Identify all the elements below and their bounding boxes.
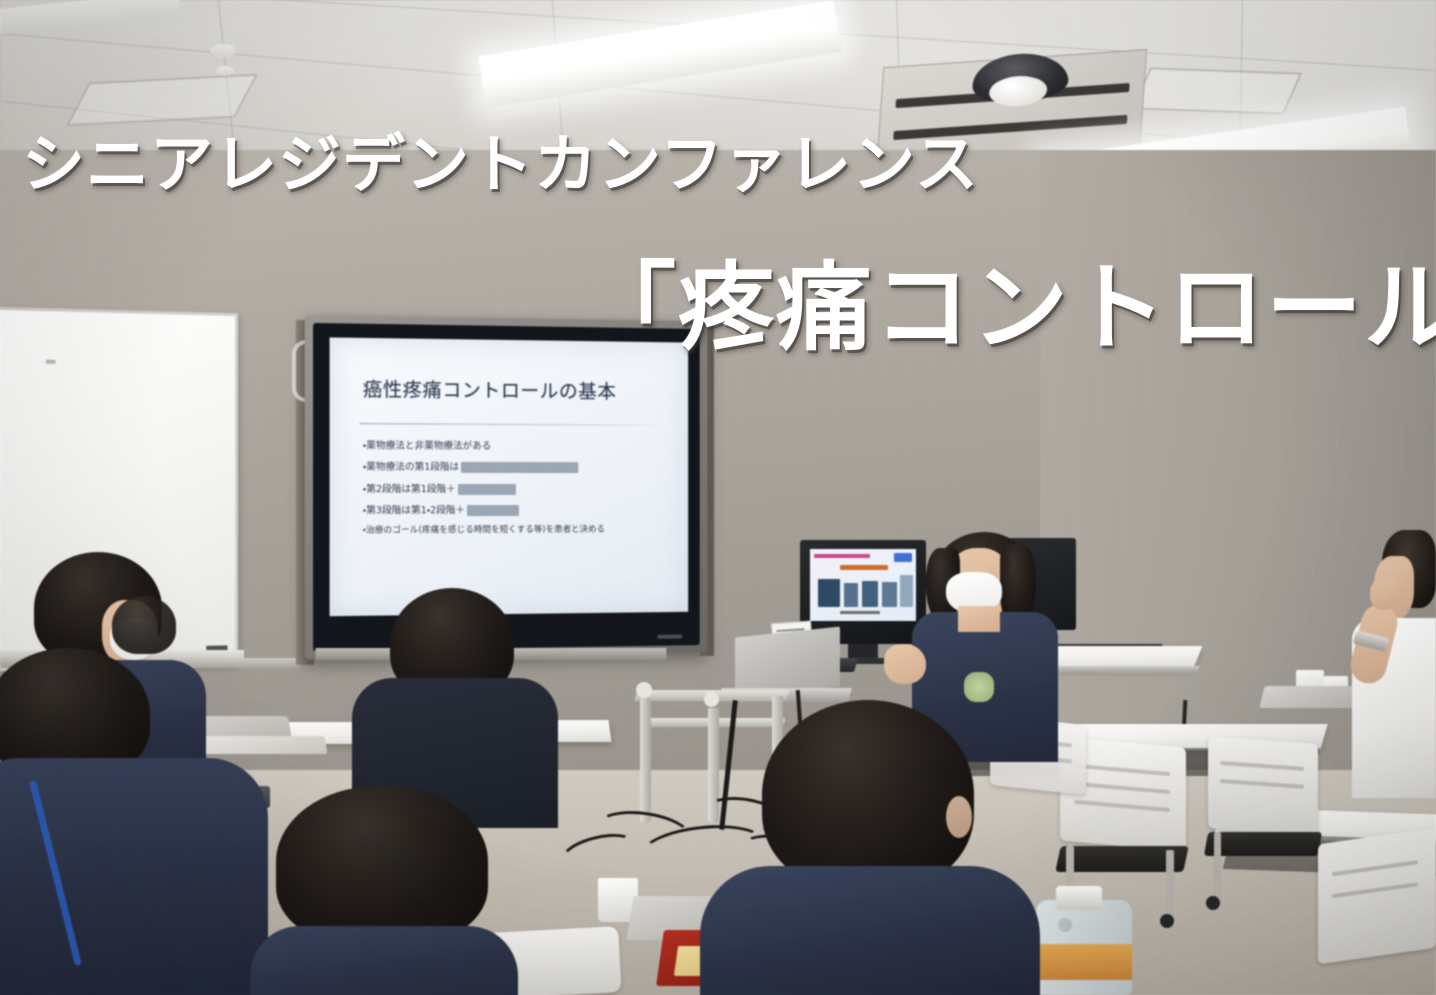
redaction-bar xyxy=(458,484,516,495)
redaction-bar xyxy=(461,462,578,473)
attendee-hair xyxy=(276,786,488,944)
attendee-torso xyxy=(700,866,1040,995)
water-bottle-cap xyxy=(1056,886,1102,910)
attendee-ear xyxy=(946,796,972,838)
presentation-slide: 癌性疼痛コントロールの基本 ・薬物療法と非薬物療法がある ・薬物療法の第1段階は… xyxy=(330,337,689,616)
bento-box xyxy=(1259,686,1360,708)
ceiling-access-panel xyxy=(1132,67,1302,114)
slide-title: 癌性疼痛コントロールの基本 xyxy=(363,374,617,403)
presenter-badge xyxy=(964,672,994,702)
ceiling-sprinkler xyxy=(216,66,234,76)
slide-bullet: ・治療のゴール(疼痛を感じる時間を短くする等)を患者と決める xyxy=(363,521,671,542)
whiteboard-mark xyxy=(46,360,56,364)
presenter-hand xyxy=(884,644,926,684)
display-bezel: 癌性疼痛コントロールの基本 ・薬物療法と非薬物療法がある ・薬物療法の第1段階は… xyxy=(305,315,708,660)
bento-box xyxy=(194,736,327,754)
slide-bullet-list: ・薬物療法と非薬物療法がある ・薬物療法の第1段階は ・第2段階は第1段階＋ ・… xyxy=(363,435,671,541)
ceiling-vent-slot xyxy=(0,0,181,36)
water-bottle-label xyxy=(1036,944,1132,980)
attendee-torso xyxy=(250,926,518,995)
ceiling-sprinkler xyxy=(210,44,236,58)
redaction-bar xyxy=(467,505,519,516)
attendee-hand xyxy=(1370,578,1398,610)
attendee-hair xyxy=(112,596,176,654)
conference-room-photo: 癌性疼痛コントロールの基本 ・薬物療法と非薬物療法がある ・薬物療法の第1段階は… xyxy=(0,0,1436,995)
slide-divider xyxy=(359,423,667,426)
attendee-hair xyxy=(762,700,974,890)
slide-bullet: ・薬物療法の第1段階は xyxy=(363,457,671,479)
slide-bullet: ・第2段階は第1段階＋ xyxy=(363,479,671,501)
presenter-neck xyxy=(958,606,1000,632)
laptop[interactable] xyxy=(735,626,840,697)
slide-bullet: ・薬物療法と非薬物療法がある xyxy=(363,435,671,458)
screenshot-root: 癌性疼痛コントロールの基本 ・薬物療法と非薬物療法がある ・薬物療法の第1段階は… xyxy=(0,0,1436,995)
desktop-monitor-screen xyxy=(810,549,916,621)
slide-bullet: ・第3段階は第1・2段階＋ xyxy=(363,500,671,522)
wall-display[interactable]: 癌性疼痛コントロールの基本 ・薬物療法と非薬物療法がある ・薬物療法の第1段階は… xyxy=(305,315,708,660)
ceiling-access-panel xyxy=(66,74,258,127)
display-panel: 癌性疼痛コントロールの基本 ・薬物療法と非薬物療法がある ・薬物療法の第1段階は… xyxy=(313,323,700,651)
attendee-torso xyxy=(0,758,268,995)
